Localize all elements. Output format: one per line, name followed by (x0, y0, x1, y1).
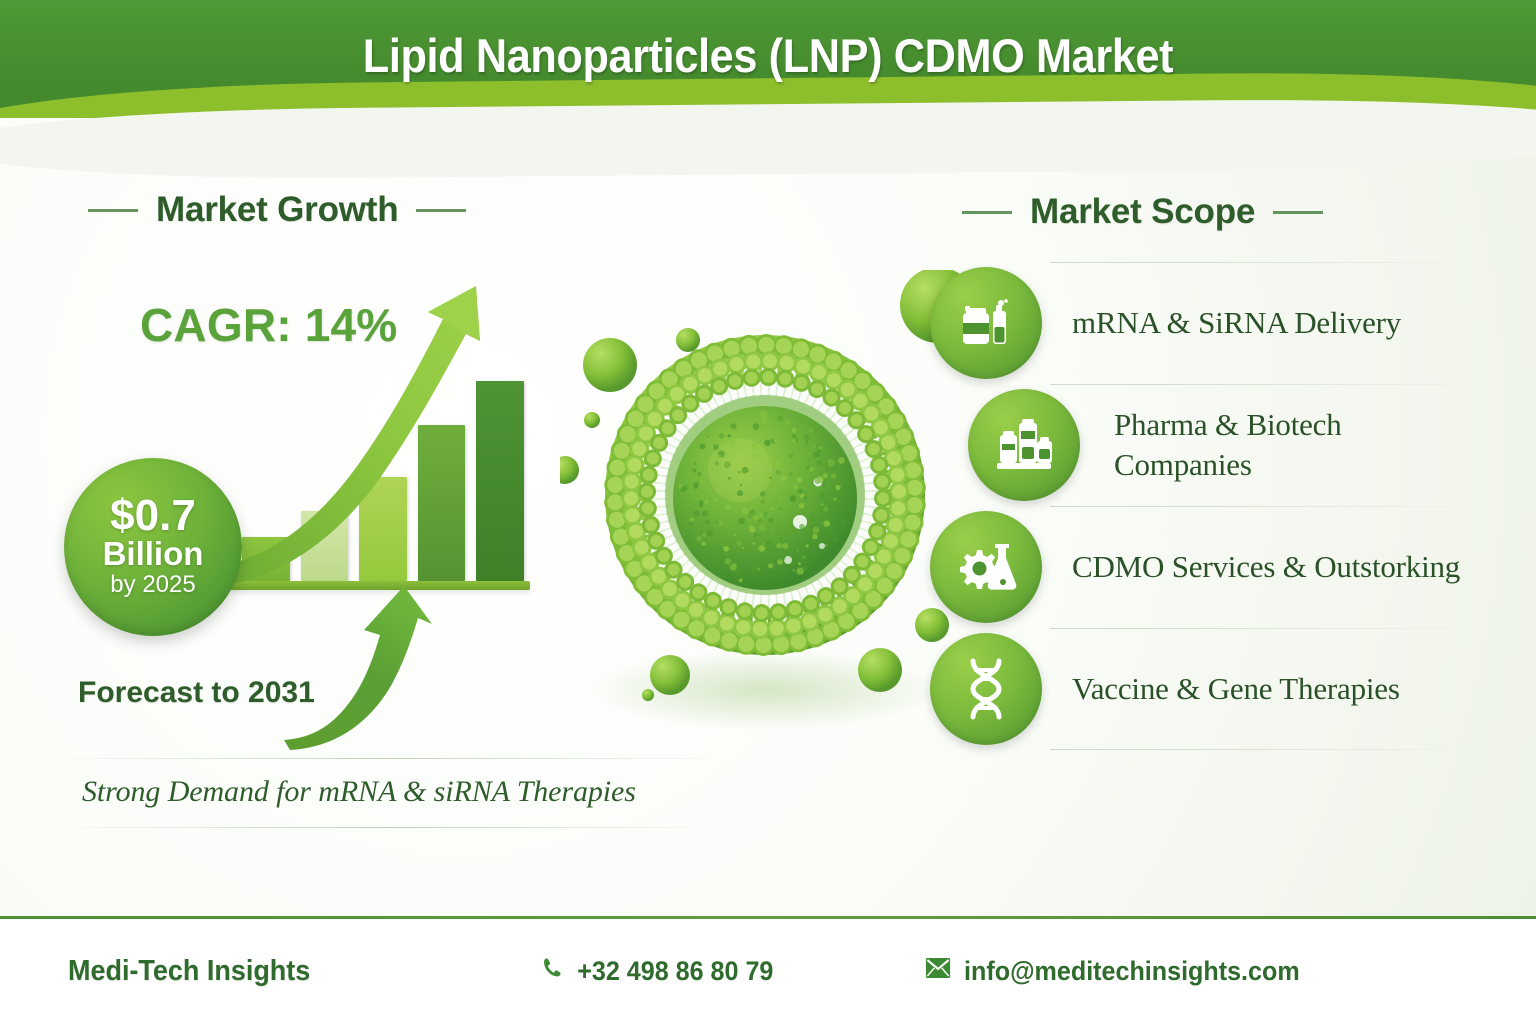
scope-item-pharma-biotech[interactable]: Pharma & Biotech Companies (930, 384, 1475, 506)
infographic-page: Lipid Nanoparticles (LNP) CDMO Market Ma… (0, 0, 1536, 1024)
scope-item-mrna-delivery[interactable]: mRNA & SiRNA Delivery (930, 262, 1475, 384)
cagr-value: CAGR: 14% (140, 298, 397, 352)
forecast-label: Forecast to 2031 (78, 676, 315, 710)
bar-2027 (359, 477, 407, 581)
bar-2026 (301, 511, 349, 581)
envelope-icon (925, 956, 951, 987)
phone-number: +32 498 86 80 79 (577, 956, 773, 987)
dna-helix-icon (930, 633, 1042, 745)
scope-item-label: CDMO Services & Outstorking (1072, 547, 1460, 587)
heading-dash-right (416, 209, 466, 212)
bar-2029 (418, 425, 466, 581)
lipid-nanoparticle-illustration (560, 270, 970, 740)
bar-2031 (476, 381, 524, 581)
heading-dash-left (88, 209, 138, 212)
bar-2025 (242, 537, 290, 581)
scope-item-label: mRNA & SiRNA Delivery (1072, 303, 1401, 343)
badge-unit: Billion (103, 537, 204, 571)
vial-bottle-icon (930, 267, 1042, 379)
page-title: Lipid Nanoparticles (LNP) CDMO Market (61, 28, 1474, 83)
chart-baseline (230, 581, 530, 590)
scope-item-vaccine-gene[interactable]: Vaccine & Gene Therapies (930, 628, 1475, 750)
scope-item-label: Vaccine & Gene Therapies (1072, 669, 1400, 709)
market-scope-list: mRNA & SiRNA Delivery Pharma & (930, 262, 1475, 750)
email-address: info@meditechinsights.com (964, 956, 1300, 987)
scope-item-cdmo-services[interactable]: CDMO Services & Outstorking (930, 506, 1475, 628)
scope-heading-dash-left (962, 211, 1012, 214)
market-scope-heading: Market Scope (962, 192, 1323, 232)
tagline-divider-bottom (68, 827, 708, 828)
phone-icon (540, 955, 564, 988)
chart-bars (242, 381, 524, 581)
tagline-text: Strong Demand for mRNA & siRNA Therapies (68, 759, 708, 827)
market-growth-heading: Market Growth (88, 190, 466, 230)
gear-flask-icon (930, 511, 1042, 623)
market-scope-heading-label: Market Scope (1030, 192, 1255, 232)
scope-heading-dash-right (1273, 211, 1323, 214)
badge-amount: $0.7 (110, 494, 196, 537)
badge-year: by 2025 (110, 571, 195, 600)
footer-email[interactable]: info@meditechinsights.com (925, 956, 1300, 987)
footer-phone[interactable]: +32 498 86 80 79 (540, 955, 773, 988)
factory-jars-icon (968, 389, 1080, 501)
growth-bar-chart (230, 370, 530, 590)
brand-name: Medi-Tech Insights (68, 955, 310, 988)
footer: Medi-Tech Insights +32 498 86 80 79 info… (0, 919, 1536, 1024)
market-growth-heading-label: Market Growth (156, 190, 398, 230)
tagline-block: Strong Demand for mRNA & siRNA Therapies (68, 758, 708, 828)
scope-item-label: Pharma & Biotech Companies (1114, 405, 1475, 484)
market-value-badge: $0.7 Billion by 2025 (64, 458, 242, 636)
